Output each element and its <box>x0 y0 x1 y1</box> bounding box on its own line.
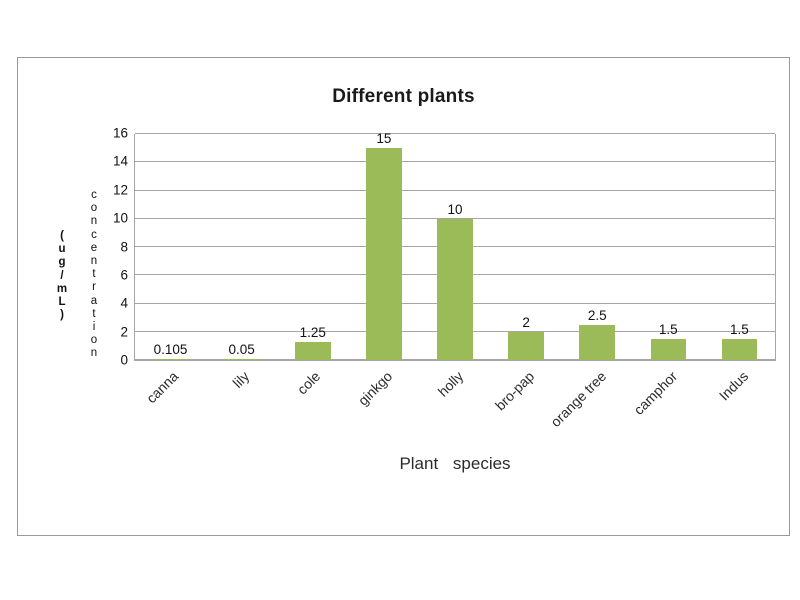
y-axis-title-char: e <box>86 242 102 255</box>
y-axis-tick-label: 2 <box>120 324 128 339</box>
bar[interactable] <box>579 325 615 360</box>
x-axis-category-labels: cannalilycoleginkgohollybro-paporange tr… <box>134 362 776 457</box>
y-axis-title-char: t <box>86 268 102 281</box>
y-axis-tick-label: 14 <box>113 154 128 169</box>
x-axis-tick: orange tree <box>562 362 633 457</box>
bar[interactable] <box>508 332 544 360</box>
x-axis-tick-label: holly <box>435 368 467 400</box>
bar[interactable] <box>153 359 189 360</box>
y-axis-tick-label: 10 <box>113 211 128 226</box>
x-axis-tick-label: canna <box>143 368 181 406</box>
y-axis-title-char: r <box>86 281 102 294</box>
x-axis-tick: lily <box>205 362 276 457</box>
bar-value-label: 1.5 <box>659 322 678 337</box>
bar-value-label: 0.05 <box>229 342 255 357</box>
bar-series: 0.1050.051.25151022.51.51.5 <box>135 134 775 360</box>
y-axis-title: concentration <box>86 189 102 361</box>
bar-value-label: 2 <box>522 315 530 330</box>
y-axis-title-char: n <box>86 255 102 268</box>
bar-slot: 15 <box>348 134 419 360</box>
x-axis-tick-label: camphor <box>630 368 680 418</box>
y-axis-title-char: c <box>86 229 102 242</box>
y-axis-title-char: t <box>86 308 102 321</box>
bar-value-label: 1.25 <box>300 325 326 340</box>
y-axis-unit-char: L <box>54 296 70 309</box>
x-axis-tick: bro-pap <box>491 362 562 457</box>
x-axis-tick-label: cole <box>294 368 323 397</box>
x-axis-tick: canna <box>134 362 205 457</box>
x-axis-tick: ginkgo <box>348 362 419 457</box>
bar[interactable] <box>366 148 402 360</box>
y-axis-title-char: c <box>86 189 102 202</box>
x-axis-tick: cole <box>277 362 348 457</box>
bar-value-label: 1.5 <box>730 322 749 337</box>
y-axis-unit-char: m <box>54 283 70 296</box>
x-axis-tick-label: ginkgo <box>354 368 394 408</box>
bar-value-label: 0.105 <box>154 342 188 357</box>
plot-area: 1614121086420 0.1050.051.25151022.51.51.… <box>134 134 776 361</box>
x-axis-tick-label: bro-pap <box>492 368 537 413</box>
chart-frame: Different plants (ug/mL) concentration 1… <box>17 57 790 536</box>
y-axis-tick-label: 4 <box>120 296 128 311</box>
bar[interactable] <box>722 339 758 360</box>
bar-value-label: 15 <box>376 131 391 146</box>
y-axis-tick-label: 6 <box>120 267 128 282</box>
y-axis-title-char: o <box>86 202 102 215</box>
y-axis-unit-char: u <box>54 243 70 256</box>
bar-value-label: 10 <box>447 202 462 217</box>
bar[interactable] <box>224 359 260 360</box>
bar-slot: 1.5 <box>704 134 775 360</box>
y-axis-tick-label: 16 <box>113 126 128 141</box>
x-axis-tick: camphor <box>633 362 704 457</box>
x-axis-tick: holly <box>419 362 490 457</box>
bar-slot: 10 <box>419 134 490 360</box>
bar-value-label: 2.5 <box>588 308 607 323</box>
bar-slot: 0.05 <box>206 134 277 360</box>
y-axis-tick-label: 12 <box>113 182 128 197</box>
y-axis-title-char: n <box>86 215 102 228</box>
chart-title: Different plants <box>18 86 789 108</box>
bar[interactable] <box>437 219 473 360</box>
x-axis-tick-label: Indus <box>716 368 752 404</box>
x-axis-tick: Indus <box>705 362 776 457</box>
x-axis-title: Plant species <box>134 454 776 474</box>
bar[interactable] <box>651 339 687 360</box>
y-axis-unit-char: g <box>54 256 70 269</box>
x-axis-tick-label: lily <box>229 368 252 391</box>
y-axis-unit-label: (ug/mL) <box>54 230 70 322</box>
y-axis-title-char: n <box>86 347 102 360</box>
bar[interactable] <box>295 342 331 360</box>
y-axis-tick-label: 8 <box>120 239 128 254</box>
y-axis-title-char: a <box>86 295 102 308</box>
bar-slot: 1.25 <box>277 134 348 360</box>
bar-slot: 2.5 <box>562 134 633 360</box>
y-axis-title-char: i <box>86 321 102 334</box>
bar-slot: 0.105 <box>135 134 206 360</box>
y-axis-unit-char: / <box>54 270 70 283</box>
y-axis-unit-char: ) <box>54 309 70 322</box>
bar-slot: 1.5 <box>633 134 704 360</box>
bar-slot: 2 <box>491 134 562 360</box>
y-axis-unit-char: ( <box>54 230 70 243</box>
y-axis-tick-label: 0 <box>120 353 128 368</box>
y-axis-title-char: o <box>86 334 102 347</box>
